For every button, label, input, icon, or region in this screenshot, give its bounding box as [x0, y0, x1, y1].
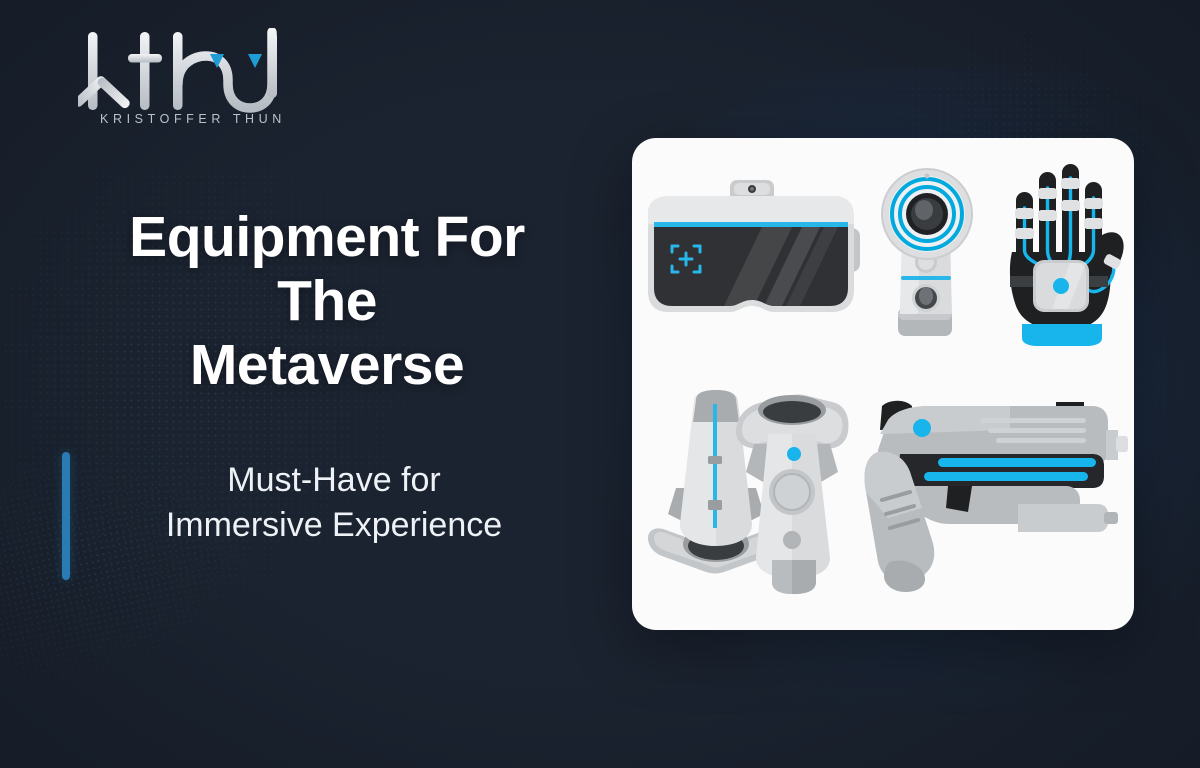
- vr-gun-controller-illustration: [860, 396, 1128, 596]
- subheadline-line-1: Must-Have for: [80, 458, 588, 503]
- brand-tagline: KRISTOFFER THUN: [80, 112, 306, 126]
- subheadline-accent-bar: [62, 452, 70, 580]
- subheadline-block: Must-Have for Immersive Experience: [62, 452, 602, 580]
- page-title: Equipment For The Metaverse: [62, 206, 592, 397]
- logo-accent-right: [248, 54, 262, 68]
- tracking-sensor-illustration: [872, 166, 982, 341]
- headline-line-3: Metaverse: [62, 334, 592, 398]
- headline-line-2: The: [62, 270, 592, 334]
- metaverse-equipment-illustration-card: [632, 138, 1134, 630]
- vr-headset-illustration: [642, 180, 862, 330]
- haptic-glove-illustration: [1000, 156, 1128, 346]
- gun-power-indicator: [913, 419, 931, 437]
- headline-line-1: Equipment For: [62, 206, 592, 270]
- motion-controller-wands-illustration: [640, 388, 850, 603]
- wand-power-indicator: [787, 447, 801, 461]
- promo-banner: KRISTOFFER THUN Equipment For The Metave…: [0, 0, 1200, 768]
- brand-logo: KRISTOFFER THUN: [78, 28, 308, 134]
- subheadline-line-2: Immersive Experience: [80, 503, 588, 548]
- page-subtitle: Must-Have for Immersive Experience: [70, 452, 602, 580]
- glove-power-indicator: [1053, 278, 1069, 294]
- kthun-logo-icon: [78, 28, 308, 114]
